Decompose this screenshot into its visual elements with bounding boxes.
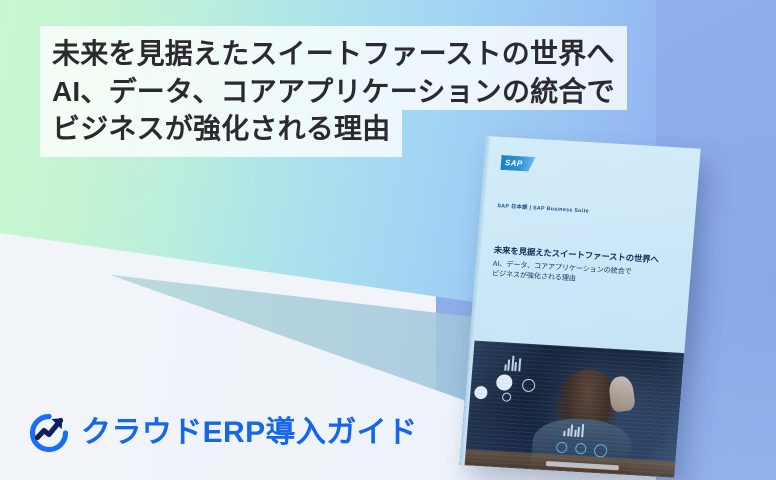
book-cover-upper: SAP SAP 日本語 | SAP Business Suite 未来を見据えた… bbox=[470, 136, 701, 353]
ebook-cover-mockup: SAP SAP 日本語 | SAP Business Suite 未来を見据えた… bbox=[486, 136, 776, 480]
book-eyebrow-text: SAP 日本語 | SAP Business Suite bbox=[497, 203, 589, 216]
headline-line-3: ビジネスが強化される理由 bbox=[40, 110, 402, 157]
sap-logo-text: SAP bbox=[501, 158, 523, 167]
brand-label: クラウドERP導入ガイド bbox=[81, 418, 417, 448]
brand-lockup: クラウドERP導入ガイド bbox=[28, 412, 417, 454]
book-cover-photo bbox=[460, 340, 685, 478]
photo-scanline-overlay bbox=[460, 340, 685, 478]
headline: 未来を見据えたスイートファーストの世界へ AI、データ、コアアプリケーションの統… bbox=[40, 26, 627, 157]
book-cover: SAP SAP 日本語 | SAP Business Suite 未来を見据えた… bbox=[460, 136, 701, 478]
trending-up-circle-icon bbox=[28, 412, 70, 454]
book-title-block: 未来を見据えたスイートファーストの世界へ AI、データ、コアアプリケーションの統… bbox=[492, 245, 680, 290]
headline-line-1: 未来を見据えたスイートファーストの世界へ bbox=[40, 26, 627, 73]
sap-logo: SAP bbox=[500, 155, 535, 172]
headline-line-2: AI、データ、コアアプリケーションの統合で bbox=[40, 73, 627, 111]
promo-banner: 未来を見据えたスイートファーストの世界へ AI、データ、コアアプリケーションの統… bbox=[0, 0, 776, 480]
